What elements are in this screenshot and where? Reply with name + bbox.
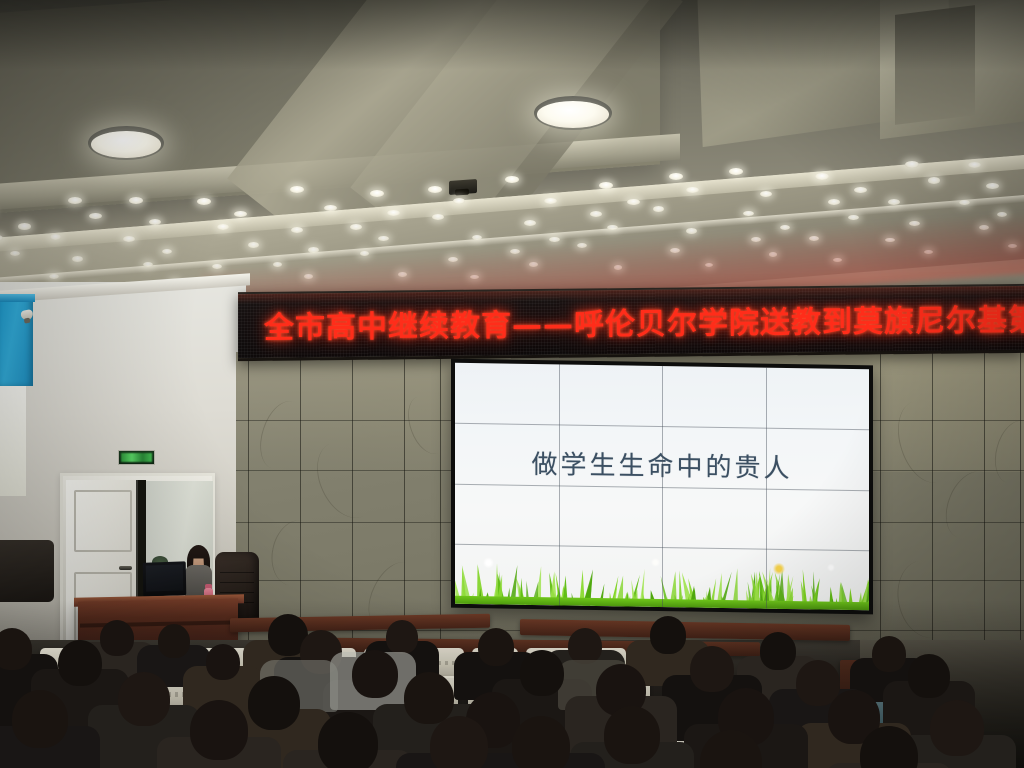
audience-member-head <box>118 672 170 726</box>
led-banner-sign: 全市高中继续教育——呼伦贝尔学院送教到莫旗尼尔基第一中学 <box>238 284 1024 361</box>
window-blind <box>0 294 33 386</box>
audience-member-head <box>206 644 240 680</box>
audience-member-head <box>760 632 796 670</box>
ceiling-downlight <box>815 173 829 180</box>
grass-flower <box>827 564 835 572</box>
audience-member-head <box>58 640 102 686</box>
ceiling-downlight <box>669 173 683 180</box>
audience-member-head <box>650 616 686 654</box>
ceiling-downlight <box>848 215 859 220</box>
laptop[interactable] <box>143 561 187 596</box>
door-panel-upper <box>74 490 132 552</box>
audience-member-head <box>318 712 378 768</box>
ceiling-downlight <box>599 182 613 189</box>
audience-member-head <box>604 706 660 764</box>
audience-member-head <box>386 620 418 654</box>
ceiling-downlight <box>197 198 211 205</box>
ceiling-downlight <box>290 186 304 193</box>
audience-member-head <box>430 716 488 768</box>
ceiling-lamp-center <box>534 96 612 130</box>
ceiling-downlight <box>217 224 229 230</box>
ceiling-downlight <box>18 223 31 229</box>
audience-member-head <box>568 628 602 664</box>
ceiling-downlight <box>686 228 697 233</box>
ceiling-downlight <box>143 262 153 267</box>
video-wall-screen[interactable]: 做学生生命中的贵人 <box>455 363 869 611</box>
ceiling-downlight <box>350 224 362 230</box>
ceiling-downlight <box>123 236 135 242</box>
audience-member-head <box>908 654 950 698</box>
ceiling-downlight <box>432 214 444 220</box>
ceiling-downlight <box>248 242 259 247</box>
ceiling-downlight <box>72 256 83 261</box>
lamp-lens-icon <box>537 101 609 128</box>
grass-flower <box>773 563 785 575</box>
ceiling-shadow <box>0 0 1024 70</box>
ceiling-downlight <box>653 206 665 212</box>
ceiling-downlight <box>428 186 442 193</box>
ceiling-downlight <box>590 211 602 217</box>
marble-seam-vertical <box>300 352 301 652</box>
window-blind-headrail <box>0 294 35 302</box>
lamp-lens-icon <box>91 131 161 158</box>
audience-member-head <box>190 700 248 760</box>
door-handle[interactable] <box>119 566 132 570</box>
audience-member-head <box>352 650 398 698</box>
window-light-strip <box>0 386 26 496</box>
ceiling-downlight <box>370 190 384 197</box>
side-chair-left <box>0 540 54 602</box>
marble-seam-vertical <box>440 352 441 652</box>
audience-member-head <box>248 676 300 730</box>
audience-member-head <box>690 646 734 692</box>
lecture-hall-photo: 全市高中继续教育——呼伦贝尔学院送教到莫旗尼尔基第一中学 做学生生命中的贵人 O… <box>0 0 1024 768</box>
marble-seam-vertical <box>880 352 881 652</box>
ceiling-projector-mount <box>449 179 477 195</box>
audience-member-head <box>404 672 454 724</box>
ceiling-downlight <box>607 225 618 230</box>
ceiling-downlight <box>905 161 919 168</box>
audience-member-head <box>520 650 564 696</box>
audience-member-head <box>478 628 514 666</box>
audience-member-head <box>872 636 906 672</box>
audience-member-head <box>930 700 984 756</box>
exit-sign-glow-icon <box>121 453 152 462</box>
audience-member-head <box>158 624 190 658</box>
ceiling-downlight <box>928 177 941 183</box>
ceiling-downlight <box>888 199 900 205</box>
ceiling-downlight <box>828 199 840 205</box>
ceiling-downlight <box>524 220 536 226</box>
audience-member-head <box>100 620 134 656</box>
audience-member-head <box>12 690 68 748</box>
exit-sign <box>118 450 155 465</box>
audience-member-head <box>512 716 570 768</box>
grass-flower <box>483 557 494 568</box>
grass-flower <box>651 558 660 567</box>
ceiling-downlight <box>234 211 247 217</box>
ceiling-downlight <box>308 247 319 252</box>
ceiling-downlight <box>129 197 143 204</box>
ceiling-lamp-left <box>88 126 164 160</box>
led-banner-text: 全市高中继续教育——呼伦贝尔学院送教到莫旗尼尔基第一中学 <box>264 294 1024 347</box>
marble-seam-vertical <box>1020 352 1021 652</box>
ceiling-downlight <box>854 187 867 193</box>
ceiling-downlight <box>686 187 699 193</box>
